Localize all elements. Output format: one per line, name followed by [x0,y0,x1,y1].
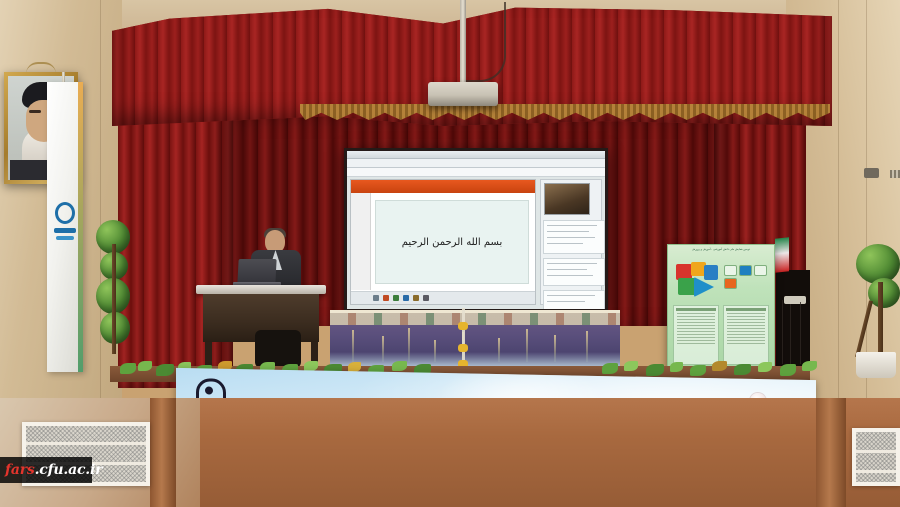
small-flag [775,237,789,272]
taskbar-icon [413,295,419,301]
poster-badge-isc [724,278,737,289]
decor-tile-strip [330,313,620,325]
window-titlebar [347,151,605,159]
ceiling-projector [428,82,498,106]
projector-vents [890,170,900,178]
current-slide: بسم الله الرحمن الرحیم [375,200,529,284]
presentation-window: بسم الله الرحمن الرحیم [350,179,536,305]
panel-card [543,258,605,286]
poster-badge [754,265,767,276]
wall-vent-grille-right [852,428,900,486]
projected-desktop: بسم الله الرحمن الرحیم [347,151,605,309]
watermark-mid: cfu [39,462,63,478]
panel-card [543,220,605,254]
flag-edge-stripe [78,82,83,372]
site-watermark: fars . cfu . ac . ir [0,457,92,483]
slide-thumbnail-rail [351,193,371,290]
wall-pillar [150,398,176,507]
projector-lens-icon [864,168,879,178]
presentation-ribbon [351,180,535,193]
side-panel [540,179,602,305]
equipment-box [784,296,806,304]
cable-knob [458,322,468,330]
poster-badge [739,265,752,276]
auditorium-photo: بسم الله الرحمن الرحیم [0,0,900,507]
portrait-brow [29,110,41,113]
wall-seam [100,0,101,400]
taskbar-icon [423,295,429,301]
wall-seam [838,0,839,400]
poster-column [673,305,719,365]
window-tab-strip [347,159,605,168]
projection-screen: بسم الله الرحمن الرحیم [344,148,608,312]
wall-pillar [816,398,846,507]
panel-thumbnail-image [544,183,590,215]
wall-seam [866,0,867,400]
conference-poster: دومین همایش ملی دانش آموزشی ، آموزش و پر… [667,244,775,370]
cable-knob [458,344,468,352]
poster-badge-row [724,265,772,295]
laptop-screen [237,259,276,284]
taskbar-icon [393,295,399,301]
university-flag [47,82,83,372]
projector-cable [466,2,506,82]
taskbar [351,291,535,304]
window-toolbar [347,168,605,177]
desk-surface [196,285,326,294]
poster-text-columns [673,305,769,365]
panel-card [543,290,605,309]
poster-logo-icon [676,262,720,300]
poster-column [723,305,769,365]
taskbar-icon [383,295,389,301]
poster-header-text: دومین همایش ملی دانش آموزشی ، آموزش و پر… [672,248,770,260]
poster-badge [724,265,737,276]
watermark-ac: ac [68,462,85,478]
slide-text: بسم الله الرحمن الرحیم [402,237,503,248]
flag-logo-icon [54,202,76,252]
watermark-prefix: fars [5,462,35,478]
watermark-tld: ir [90,462,102,478]
taskbar-icon [403,295,409,301]
taskbar-icon [373,295,379,301]
